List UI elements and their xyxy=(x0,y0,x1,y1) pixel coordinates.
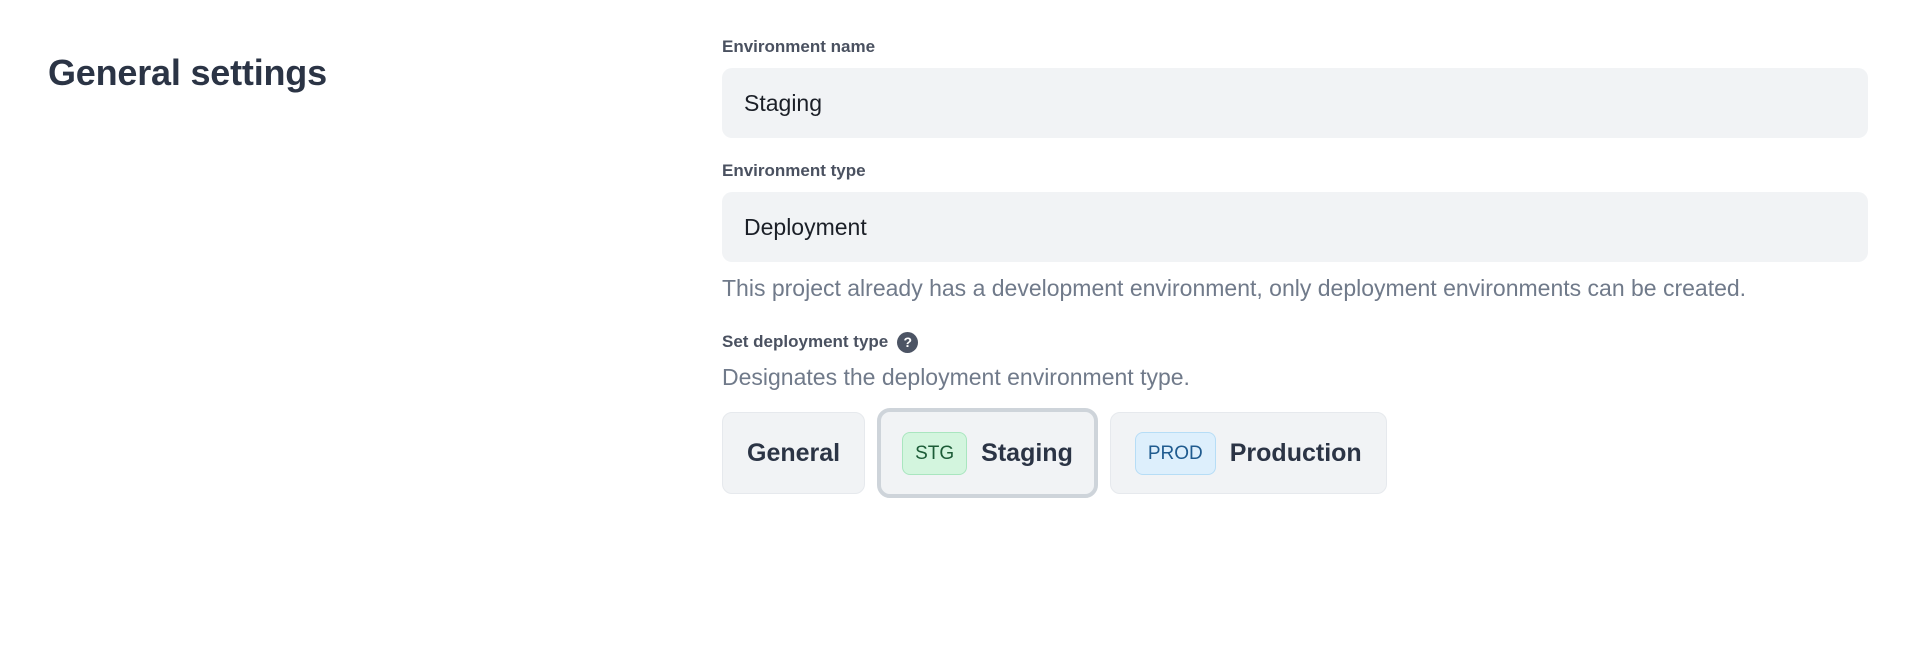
deployment-type-field-group: Set deployment type ? Designates the dep… xyxy=(722,331,1872,498)
environment-type-input[interactable] xyxy=(722,192,1868,262)
deployment-type-description: Designates the deployment environment ty… xyxy=(722,361,1872,394)
general-settings-page: General settings Environment name Enviro… xyxy=(0,0,1916,652)
deployment-option-staging[interactable]: STG Staging xyxy=(877,408,1098,498)
deployment-type-options: General STG Staging PROD Production xyxy=(722,408,1872,498)
staging-badge: STG xyxy=(902,432,967,475)
deployment-option-staging-label: Staging xyxy=(981,439,1073,468)
deployment-option-production[interactable]: PROD Production xyxy=(1110,412,1387,494)
environment-name-field-group: Environment name xyxy=(722,36,1872,138)
deployment-option-general[interactable]: General xyxy=(722,412,865,494)
deployment-option-production-label: Production xyxy=(1230,439,1362,468)
environment-name-label: Environment name xyxy=(722,36,1872,58)
environment-type-field-group: Environment type This project already ha… xyxy=(722,160,1872,305)
settings-form: Environment name Environment type This p… xyxy=(722,36,1872,498)
environment-name-input[interactable] xyxy=(722,68,1868,138)
page-title: General settings xyxy=(48,52,327,94)
question-mark-circle-icon[interactable]: ? xyxy=(897,332,918,353)
production-badge: PROD xyxy=(1135,432,1216,475)
environment-type-helper-text: This project already has a development e… xyxy=(722,272,1822,305)
deployment-option-general-label: General xyxy=(747,439,840,468)
deployment-type-label: Set deployment type xyxy=(722,331,888,353)
environment-type-label: Environment type xyxy=(722,160,1872,182)
deployment-type-label-row: Set deployment type ? xyxy=(722,331,1872,353)
